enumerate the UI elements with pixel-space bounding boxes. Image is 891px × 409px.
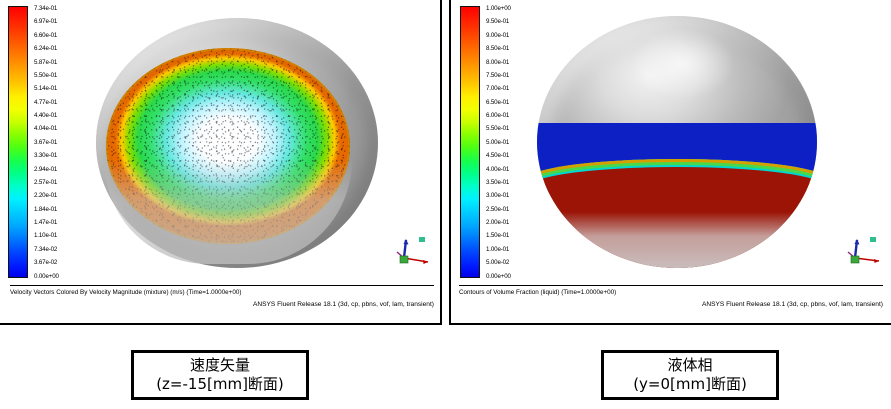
legend-tick: 7.00e-01 <box>486 86 511 92</box>
legend-tick: 3.50e-01 <box>486 180 511 186</box>
legend-tick: 1.84e-01 <box>34 207 59 213</box>
scene-volume-fraction <box>515 10 845 272</box>
legend-tick: 1.10e-01 <box>34 233 59 239</box>
scene-velocity-vectors <box>82 10 392 272</box>
legend-tick: 6.97e-01 <box>34 19 59 25</box>
caption-text: Contours of Volume Fraction (liquid) (Ti… <box>459 289 883 297</box>
legend-tick: 5.50e-01 <box>34 73 59 79</box>
title-line-1: 速度矢量 <box>190 356 250 375</box>
legend-tick: 9.00e-01 <box>486 33 511 39</box>
caption-release: ANSYS Fluent Release 18.1 (3d, cp, pbns,… <box>10 300 434 309</box>
legend-tick: 5.00e-02 <box>486 260 511 266</box>
legend-tick: 1.50e-01 <box>486 233 511 239</box>
legend-tick: 3.67e-01 <box>34 140 59 146</box>
sphere-lower-surface <box>104 160 352 264</box>
legend-tick: 7.50e-01 <box>486 73 511 79</box>
legend-volume-fraction: 1.00e+00 9.50e-01 9.00e-01 8.50e-01 8.00… <box>460 6 511 280</box>
legend-tick: 2.00e-01 <box>486 220 511 226</box>
legend-tick: 3.30e-01 <box>34 153 59 159</box>
interface-gradient-band <box>537 159 817 201</box>
legend-tick: 5.50e-01 <box>486 126 511 132</box>
legend-tick: 4.04e-01 <box>34 126 59 132</box>
caption-text: Velocity Vectors Colored By Velocity Mag… <box>10 289 434 297</box>
caption-volume-fraction: Contours of Volume Fraction (liquid) (Ti… <box>459 289 883 319</box>
legend-tick: 6.60e-01 <box>34 33 59 39</box>
caption-divider <box>459 285 883 286</box>
legend-tick: 8.00e-01 <box>486 60 511 66</box>
legend-tick: 6.24e-01 <box>34 46 59 52</box>
legend-tick: 4.50e-01 <box>486 153 511 159</box>
section-plane-y0 <box>537 16 817 268</box>
legend-tick: 1.47e-01 <box>34 220 59 226</box>
caption-velocity: Velocity Vectors Colored By Velocity Mag… <box>10 289 434 319</box>
caption-divider <box>10 285 434 286</box>
title-line-2: (z=-15[mm]断面) <box>156 375 284 394</box>
legend-tick: 1.00e+00 <box>486 6 511 12</box>
legend-tick: 5.14e-01 <box>34 86 59 92</box>
legend-tick: 7.34e-02 <box>34 247 59 253</box>
legend-tick: 9.50e-01 <box>486 19 511 25</box>
legend-tick: 4.00e-01 <box>486 167 511 173</box>
legend-tick: 6.00e-01 <box>486 113 511 119</box>
legend-tick: 7.34e-01 <box>34 6 59 12</box>
legend-tick: 4.77e-01 <box>34 100 59 106</box>
panel-volume-fraction: 1.00e+00 9.50e-01 9.00e-01 8.50e-01 8.00… <box>449 0 891 325</box>
axis-triad-icon <box>841 230 885 274</box>
colorbar-volume-fraction <box>460 6 480 278</box>
axis-triad-icon <box>390 230 434 274</box>
title-line-1: 液体相 <box>667 356 712 375</box>
legend-tick: 5.87e-01 <box>34 60 59 66</box>
legend-tick: 2.20e-01 <box>34 193 59 199</box>
legend-tick: 1.00e-01 <box>486 247 511 253</box>
legend-velocity-magnitude: 7.34e-01 6.97e-01 6.60e-01 6.24e-01 5.87… <box>8 6 59 280</box>
sphere-lower-surface <box>537 212 817 268</box>
title-box-volume-fraction: 液体相 (y=0[mm]断面) <box>601 350 779 400</box>
caption-release: ANSYS Fluent Release 18.1 (3d, cp, pbns,… <box>459 300 883 309</box>
legend-ticks-volume-fraction: 1.00e+00 9.50e-01 9.00e-01 8.50e-01 8.00… <box>486 6 511 280</box>
legend-tick: 3.67e-02 <box>34 260 59 266</box>
legend-tick: 4.40e-01 <box>34 113 59 119</box>
figure-canvas: 7.34e-01 6.97e-01 6.60e-01 6.24e-01 5.87… <box>0 0 891 409</box>
legend-tick: 8.50e-01 <box>486 46 511 52</box>
legend-tick: 2.57e-01 <box>34 180 59 186</box>
legend-tick: 5.00e-01 <box>486 140 511 146</box>
title-box-velocity: 速度矢量 (z=-15[mm]断面) <box>131 350 309 400</box>
legend-tick: 2.94e-01 <box>34 167 59 173</box>
legend-tick: 3.00e-01 <box>486 193 511 199</box>
legend-ticks-velocity: 7.34e-01 6.97e-01 6.60e-01 6.24e-01 5.87… <box>34 6 59 280</box>
legend-tick: 0.00e+00 <box>34 274 59 280</box>
legend-tick: 0.00e+00 <box>486 274 511 280</box>
panel-velocity-vectors: 7.34e-01 6.97e-01 6.60e-01 6.24e-01 5.87… <box>0 0 442 325</box>
legend-tick: 2.50e-01 <box>486 207 511 213</box>
colorbar-velocity <box>8 6 28 278</box>
title-line-2: (y=0[mm]断面) <box>633 375 747 394</box>
legend-tick: 6.50e-01 <box>486 100 511 106</box>
